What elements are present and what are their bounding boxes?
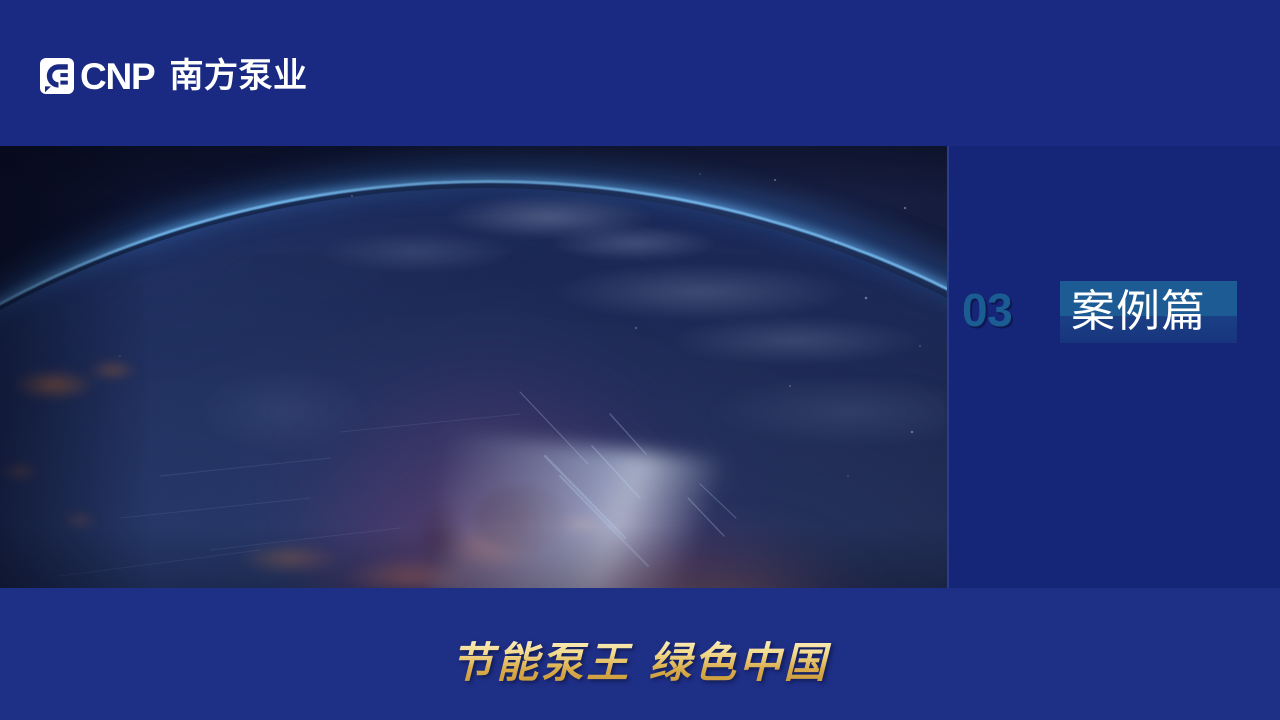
footer-slogan: 节能泵王 绿色中国	[0, 636, 1280, 690]
presentation-slide: CNP 南方泵业	[0, 0, 1280, 720]
section-panel	[947, 146, 1280, 588]
brand-logo[interactable]: CNP 南方泵业	[40, 54, 308, 98]
header-band: CNP 南方泵业	[0, 0, 1280, 146]
section-number: 03	[962, 287, 1012, 333]
image-vignette	[0, 146, 947, 588]
panel-divider	[947, 146, 949, 588]
section-title: 案例篇	[1071, 286, 1241, 338]
logo-chinese-text: 南方泵业	[170, 59, 308, 93]
logo-latin-text: CNP	[80, 58, 155, 95]
cnp-p-monogram-icon	[40, 58, 74, 94]
earth-from-space-image	[0, 146, 947, 588]
